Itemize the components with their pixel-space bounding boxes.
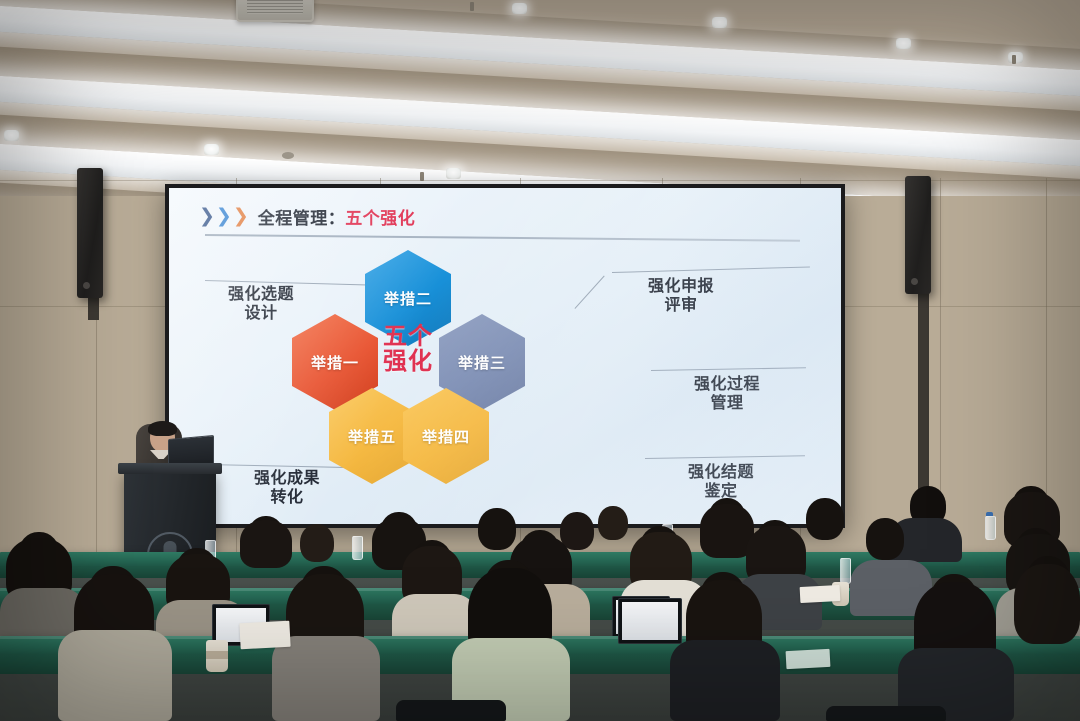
connector-line (645, 455, 805, 459)
paper-sheet (800, 585, 841, 603)
sprinkler (1012, 55, 1016, 64)
water-bottle (352, 536, 363, 560)
downlight (512, 3, 527, 14)
slide-title-prefix: 全程管理： (258, 209, 346, 228)
projection-screen-frame: ❯❯❯ 全程管理：五个强化 举措二 (165, 184, 845, 528)
caption-line2: 管理 (665, 395, 789, 414)
audience-head (560, 512, 594, 550)
chair-back (396, 700, 506, 721)
downlight (4, 130, 19, 141)
connector-line (651, 367, 806, 371)
downlight (204, 144, 219, 155)
paper-sheet (786, 649, 831, 669)
connector-line (574, 276, 604, 310)
caption-line1: 强化结题 (659, 464, 783, 483)
slide-title-row: ❯❯❯ 全程管理：五个强化 (199, 204, 415, 229)
column-speaker-left (77, 168, 103, 298)
caption-top-right: 强化申报 评审 (619, 278, 743, 316)
title-underline (205, 234, 800, 241)
slide-title-accent: 五个强化 (345, 209, 415, 228)
hex-label: 举措一 (311, 352, 359, 373)
water-bottle (840, 558, 851, 584)
presenter-hair (148, 421, 177, 436)
caption-line1: 强化选题 (199, 286, 323, 305)
caption-top-left: 强化选题 设计 (199, 286, 323, 324)
downlight (896, 38, 911, 49)
hexagon-diagram: 举措二 举措一 五个 强化 举措三 (169, 242, 841, 524)
audience-head (300, 524, 334, 562)
podium-top (118, 463, 222, 474)
triple-chevron-right-icon: ❯❯❯ (199, 207, 249, 226)
audience-head (866, 518, 904, 560)
hex-label: 举措四 (422, 426, 470, 447)
caption-line2: 转化 (225, 489, 349, 508)
sprinkler (470, 2, 474, 11)
audience-hair (240, 520, 292, 568)
bottle-cap (986, 512, 993, 516)
caption-line1: 强化申报 (619, 278, 743, 297)
audience-body (670, 640, 780, 721)
audience-body (58, 630, 172, 721)
caption-line1: 强化成果 (225, 470, 349, 489)
caption-mid-right: 强化过程 管理 (665, 376, 789, 414)
cup-sleeve (206, 651, 228, 659)
presentation-slide: ❯❯❯ 全程管理：五个强化 举措二 (169, 188, 841, 524)
ac-cassette-unit (236, 0, 314, 22)
ceiling (0, 0, 1080, 196)
caption-bottom-right: 强化结题 鉴定 (659, 464, 783, 502)
slide-title: 全程管理：五个强化 (258, 204, 416, 229)
lecture-hall-photo: ❯❯❯ 全程管理：五个强化 举措二 (0, 0, 1080, 721)
caption-line2: 评审 (619, 297, 743, 316)
hex-measure-four[interactable]: 举措四 (403, 388, 489, 484)
caption-line2: 设计 (199, 305, 323, 324)
connector-line (612, 266, 810, 273)
hex-label: 举措二 (384, 288, 432, 309)
downlight (712, 17, 727, 28)
audience-head (478, 508, 516, 550)
column-speaker-right (905, 176, 931, 294)
water-bottle (985, 516, 996, 540)
caption-bottom-left: 强化成果 转化 (225, 470, 349, 508)
hex-label: 举措五 (348, 426, 396, 447)
coffee-cup (206, 640, 228, 672)
ceiling-sensor (282, 152, 294, 159)
audience-head (598, 506, 628, 540)
audience-laptop (618, 598, 682, 644)
paper-sheet (239, 621, 290, 650)
caption-line1: 强化过程 (665, 376, 789, 395)
audience-body (272, 636, 380, 721)
audience-hair (1014, 564, 1080, 644)
laptop-screen (622, 602, 678, 640)
hex-label: 举措三 (458, 352, 506, 373)
chair-back (826, 706, 946, 721)
audience-head (806, 498, 844, 540)
